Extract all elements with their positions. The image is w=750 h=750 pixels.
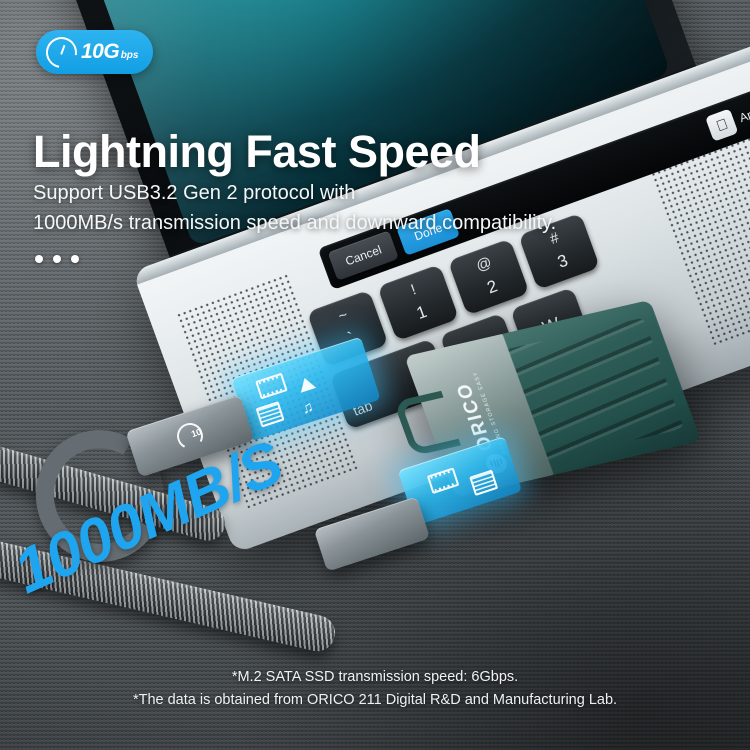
speed-badge: 10 G bps bbox=[36, 30, 153, 74]
dot-2 bbox=[53, 255, 61, 263]
film-icon bbox=[255, 373, 288, 400]
speedometer-icon bbox=[40, 30, 83, 73]
document-icon-lower bbox=[469, 470, 498, 496]
decorative-dots bbox=[35, 255, 79, 263]
play-arrow-icon bbox=[297, 375, 316, 392]
document-icon bbox=[256, 401, 285, 427]
footnote-line-1: *M.2 SATA SSD transmission speed: 6Gbps. bbox=[0, 666, 750, 689]
footnote-line-2: *The data is obtained from ORICO 211 Dig… bbox=[0, 689, 750, 712]
touchbar-apple-suggestion[interactable]:  Apple bbox=[699, 92, 750, 146]
speed-badge-text: 10 G bps bbox=[81, 40, 138, 64]
touchbar-apple-label: Apple bbox=[737, 101, 750, 125]
dot-1 bbox=[35, 255, 43, 263]
film-icon-lower bbox=[427, 467, 460, 494]
subcopy-line-1: Support USB3.2 Gen 2 protocol with bbox=[33, 178, 556, 208]
key-2[interactable]: @ 2 bbox=[448, 238, 530, 315]
touchbar-cancel-label: Cancel bbox=[343, 243, 383, 269]
speed-badge-unit-bps: bps bbox=[121, 50, 139, 61]
subcopy: Support USB3.2 Gen 2 protocol with 1000M… bbox=[33, 178, 556, 238]
headline: Lightning Fast Speed bbox=[33, 126, 481, 178]
dot-3 bbox=[71, 255, 79, 263]
speed-badge-unit-g: G bbox=[103, 40, 119, 64]
speed-badge-number: 10 bbox=[81, 40, 103, 64]
apple-logo-icon:  bbox=[705, 108, 738, 141]
music-note-icon: ♫ bbox=[300, 399, 315, 417]
key-1[interactable]: ! 1 bbox=[377, 264, 459, 341]
subcopy-line-2: 1000MB/s transmission speed and downward… bbox=[33, 208, 556, 238]
product-marketing-poster: Cancel Done  Apple ~ bbox=[0, 0, 750, 750]
footnotes: *M.2 SATA SSD transmission speed: 6Gbps.… bbox=[0, 666, 750, 712]
connector-speed-gauge-icon bbox=[174, 420, 207, 453]
